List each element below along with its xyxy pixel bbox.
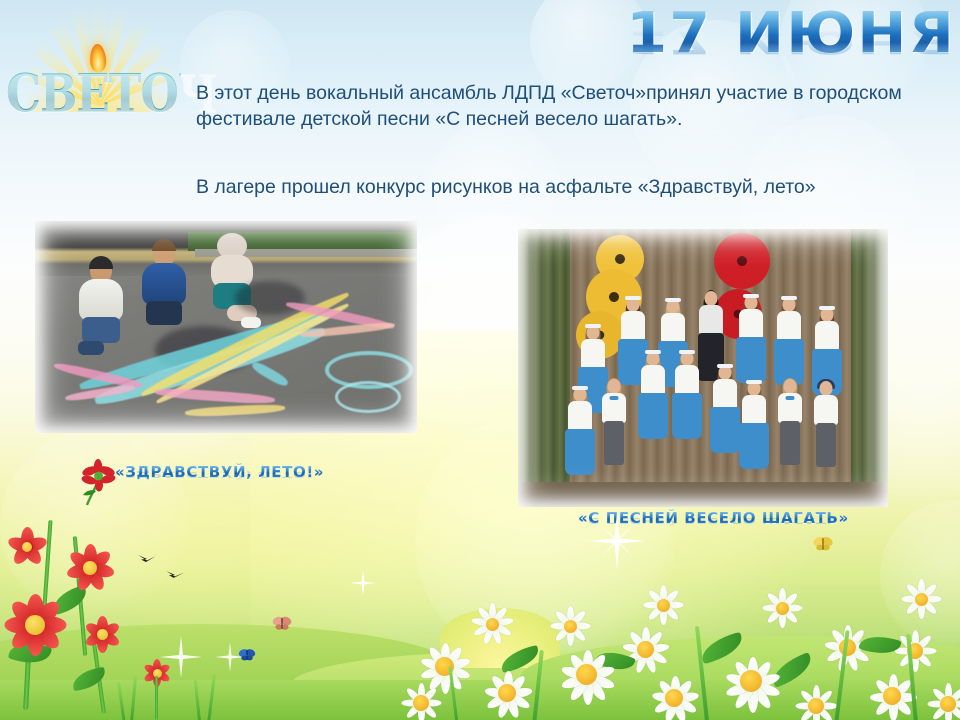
choir-member <box>708 365 742 485</box>
body-text-block: В этот день вокальный ансамбль ЛДПД «Све… <box>196 80 936 200</box>
daisy-flower <box>866 670 918 720</box>
paper-flower-red <box>714 233 770 289</box>
slide-canvas: СВЕТОЧ 17 ИЮНЯ 17 ИЮНЯ В этот день вокал… <box>0 0 960 720</box>
chalk-stroke <box>250 360 290 389</box>
stage-curtain-green <box>518 229 570 507</box>
photo-choir-group[interactable] <box>518 229 888 507</box>
child-figure <box>133 243 195 339</box>
child-figure <box>70 259 132 355</box>
leaf <box>858 631 901 658</box>
choir-member <box>774 379 806 491</box>
photo-chalk-content <box>35 221 417 433</box>
choir-member <box>598 379 630 491</box>
caption-left-photo: «ЗДРАВСТВУЙ, ЛЕТО!» «ЗДРАВСТВУЙ, ЛЕТО!» <box>115 463 324 497</box>
choir-member <box>810 381 842 493</box>
logo-wordmark: СВЕТОЧ <box>6 54 181 137</box>
grass-blade <box>834 630 849 720</box>
chalk-stroke <box>185 403 285 417</box>
logo-svetoch: СВЕТОЧ <box>6 2 181 142</box>
bokeh-circle <box>880 500 960 650</box>
grass-blade <box>906 634 918 720</box>
choir-member <box>738 381 770 493</box>
stage-curtain-green <box>851 229 888 507</box>
chalk-stroke <box>155 387 275 405</box>
paragraph-1: В этот день вокальный ансамбль ЛДПД «Све… <box>196 80 936 132</box>
chalk-stroke <box>335 381 401 413</box>
choir-member <box>636 351 670 473</box>
photo-chalk-drawing[interactable] <box>35 221 417 433</box>
choir-member <box>670 351 704 475</box>
daisy-flower <box>924 680 960 720</box>
caption-left-reflection: «ЗДРАВСТВУЙ, ЛЕТО!» <box>115 470 324 479</box>
daisy-flower <box>820 620 874 674</box>
paragraph-2: В лагере прошел конкурс рисунков на асфа… <box>196 174 936 200</box>
page-title-reflection: 17 ИЮНЯ <box>593 25 956 58</box>
daisy-flower <box>890 626 940 676</box>
cast-shadow <box>235 281 305 315</box>
photo-choir-content <box>518 229 888 507</box>
daisy-flower <box>900 578 942 620</box>
warm-glow <box>0 400 500 700</box>
red-flower-icon <box>78 455 120 507</box>
choir-member <box>564 387 596 493</box>
caption-right-photo: «С ПЕСНЕЙ ВЕСЕЛО ШАГАТЬ» «С ПЕСНЕЙ ВЕСЕЛ… <box>578 509 849 543</box>
caption-right-reflection: «С ПЕСНЕЙ ВЕСЕЛО ШАГАТЬ» <box>578 516 849 525</box>
